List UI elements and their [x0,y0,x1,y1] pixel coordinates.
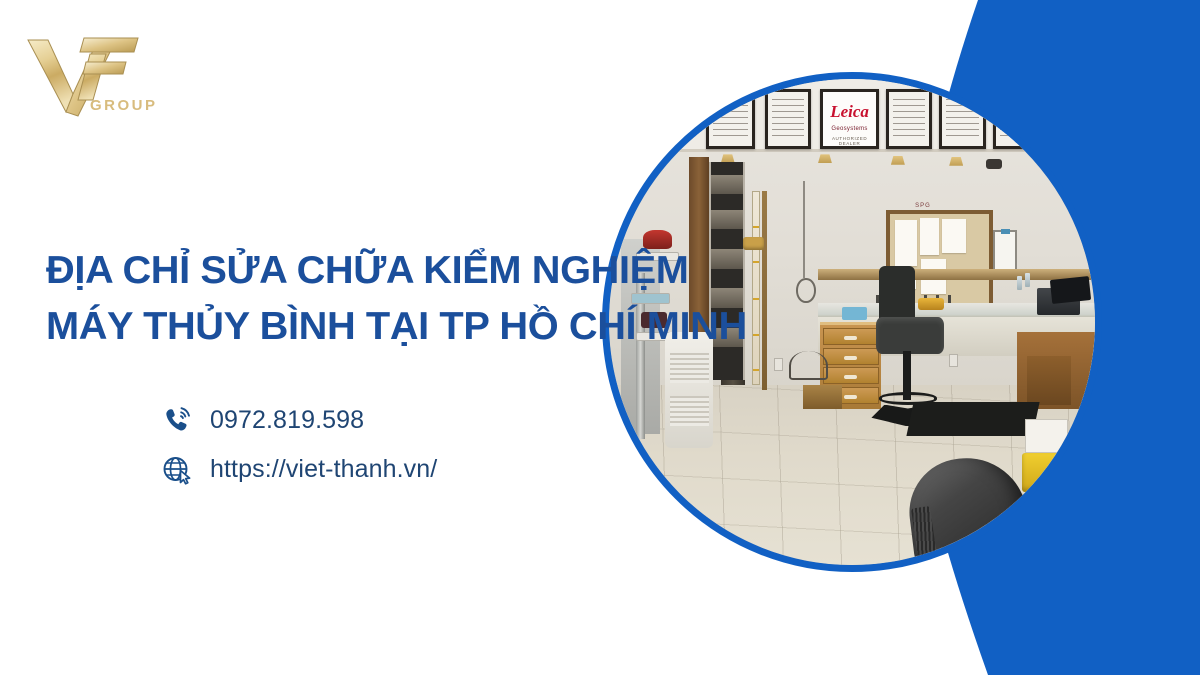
phone-ringing-icon [160,403,194,437]
headline-line-2: MÁY THỦY BÌNH TẠI TP HỒ CHÍ MINH [46,299,597,355]
leica-sub-text: Geosystems [823,126,875,132]
contact-website[interactable]: https://viet-thanh.vn/ [160,447,437,491]
leica-dealer-text: AUTHORIZED DEALER [823,136,875,146]
left-content: ĐỊA CHỈ SỬA CHỮA KIỂM NGHIỆM MÁY THỦY BÌ… [0,0,600,675]
contact-list: 0972.819.598 https://viet-thanh.vn/ [160,398,437,496]
contact-phone[interactable]: 0972.819.598 [160,398,437,442]
globe-cursor-icon [160,452,194,486]
page-title: ĐỊA CHỈ SỬA CHỮA KIỂM NGHIỆM MÁY THỦY BÌ… [46,243,586,355]
board-label: SPG [915,203,931,209]
phone-number[interactable]: 0972.819.598 [210,405,364,435]
leica-dealer-sign: Leica Geosystems AUTHORIZED DEALER [820,89,878,150]
leica-brand-text: Leica [823,103,875,121]
promo-banner: GROUP ĐỊA CHỈ SỬA CHỮA KIỂM NGHIỆM MÁY T… [0,0,1200,675]
website-url[interactable]: https://viet-thanh.vn/ [210,454,437,484]
headline-line-1: ĐỊA CHỈ SỬA CHỮA KIỂM NGHIỆM [46,243,597,299]
